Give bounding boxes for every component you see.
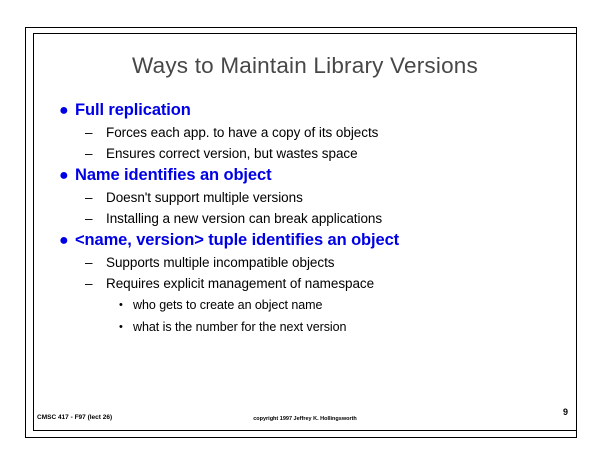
bullet-level1: ● Name identifies an object	[33, 164, 577, 187]
bullet-level3-text: who gets to create an object name	[133, 298, 322, 312]
bullet-level1-text: Name identifies an object	[75, 166, 271, 184]
bullet-level2: – Supports multiple incompatible objects	[33, 252, 577, 273]
slide-body: ● Full replication – Forces each app. to…	[33, 99, 577, 338]
bullet-dash-icon: –	[85, 273, 92, 294]
bullet-disc-icon: ●	[59, 164, 69, 187]
bullet-level2: – Installing a new version can break app…	[33, 208, 577, 229]
bullet-level2-text: Doesn't support multiple versions	[106, 190, 303, 205]
bullet-level2-text: Supports multiple incompatible objects	[106, 255, 334, 270]
bullet-level2-text: Ensures correct version, but wastes spac…	[106, 146, 358, 161]
bullet-level2-text: Requires explicit management of namespac…	[106, 276, 374, 291]
slide-title: Ways to Maintain Library Versions	[33, 53, 577, 79]
bullet-disc-icon: ●	[59, 99, 69, 122]
bullet-dot-icon: •	[119, 316, 123, 338]
bullet-level1-text: Full replication	[75, 101, 191, 119]
bullet-dash-icon: –	[85, 122, 92, 143]
bullet-level3-text: what is the number for the next version	[133, 320, 346, 334]
bullet-level2: – Forces each app. to have a copy of its…	[33, 122, 577, 143]
bullet-dash-icon: –	[85, 208, 92, 229]
bullet-level1: ● <name, version> tuple identifies an ob…	[33, 229, 577, 252]
slide-canvas: Ways to Maintain Library Versions ● Full…	[0, 0, 605, 467]
slide-page-number: 9	[563, 407, 568, 417]
bullet-level2: – Requires explicit management of namesp…	[33, 273, 577, 294]
bullet-level3: • who gets to create an object name	[33, 294, 577, 316]
bullet-disc-icon: ●	[59, 229, 69, 252]
bullet-dash-icon: –	[85, 252, 92, 273]
bullet-level2-text: Installing a new version can break appli…	[106, 211, 382, 226]
bullet-level3: • what is the number for the next versio…	[33, 316, 577, 338]
bullet-level1-text: <name, version> tuple identifies an obje…	[75, 231, 399, 249]
bullet-dash-icon: –	[85, 187, 92, 208]
footer-copyright: copyright 1997 Jeffrey K. Hollingsworth	[33, 416, 577, 422]
bullet-level2: – Doesn't support multiple versions	[33, 187, 577, 208]
bullet-level2: – Ensures correct version, but wastes sp…	[33, 143, 577, 164]
bullet-level2-text: Forces each app. to have a copy of its o…	[106, 125, 378, 140]
bullet-level1: ● Full replication	[33, 99, 577, 122]
bullet-dash-icon: –	[85, 143, 92, 164]
bullet-dot-icon: •	[119, 294, 123, 316]
